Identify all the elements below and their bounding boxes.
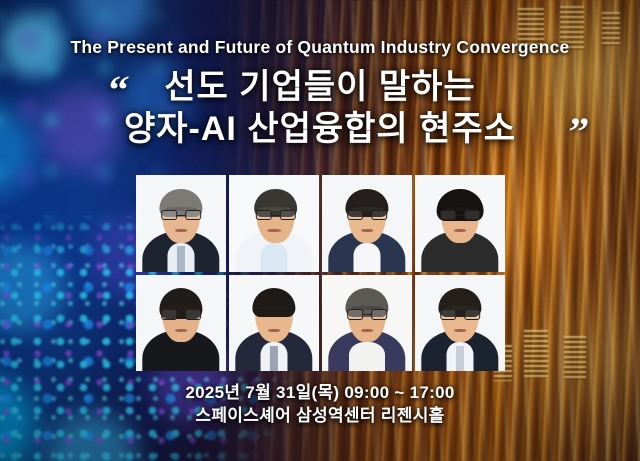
speaker-photo <box>415 175 505 272</box>
event-poster: The Present and Future of Quantum Indust… <box>0 0 640 461</box>
speaker-photo <box>136 175 226 272</box>
speaker-photo <box>136 275 226 372</box>
speaker-photo-grid <box>136 175 505 371</box>
page-title: 선도 기업들이 말하는 양자-AI 산업융합의 현주소 <box>0 66 640 150</box>
speaker-photo <box>415 275 505 372</box>
speaker-photo <box>322 175 412 272</box>
title-line-1: 선도 기업들이 말하는 <box>0 66 640 108</box>
title-line-2: 양자-AI 산업융합의 현주소 <box>0 108 640 150</box>
event-date: 2025년 7월 31일(목) 09:00 ~ 17:00 <box>0 381 640 404</box>
speaker-photo <box>229 175 319 272</box>
english-subtitle: The Present and Future of Quantum Indust… <box>0 37 640 58</box>
poster-content: The Present and Future of Quantum Indust… <box>0 0 640 461</box>
speaker-photo <box>229 275 319 372</box>
event-details: 2025년 7월 31일(목) 09:00 ~ 17:00 스페이스셰어 삼성역… <box>0 381 640 428</box>
speaker-photo <box>322 275 412 372</box>
event-venue: 스페이스셰어 삼성역센터 리젠시홀 <box>0 404 640 428</box>
